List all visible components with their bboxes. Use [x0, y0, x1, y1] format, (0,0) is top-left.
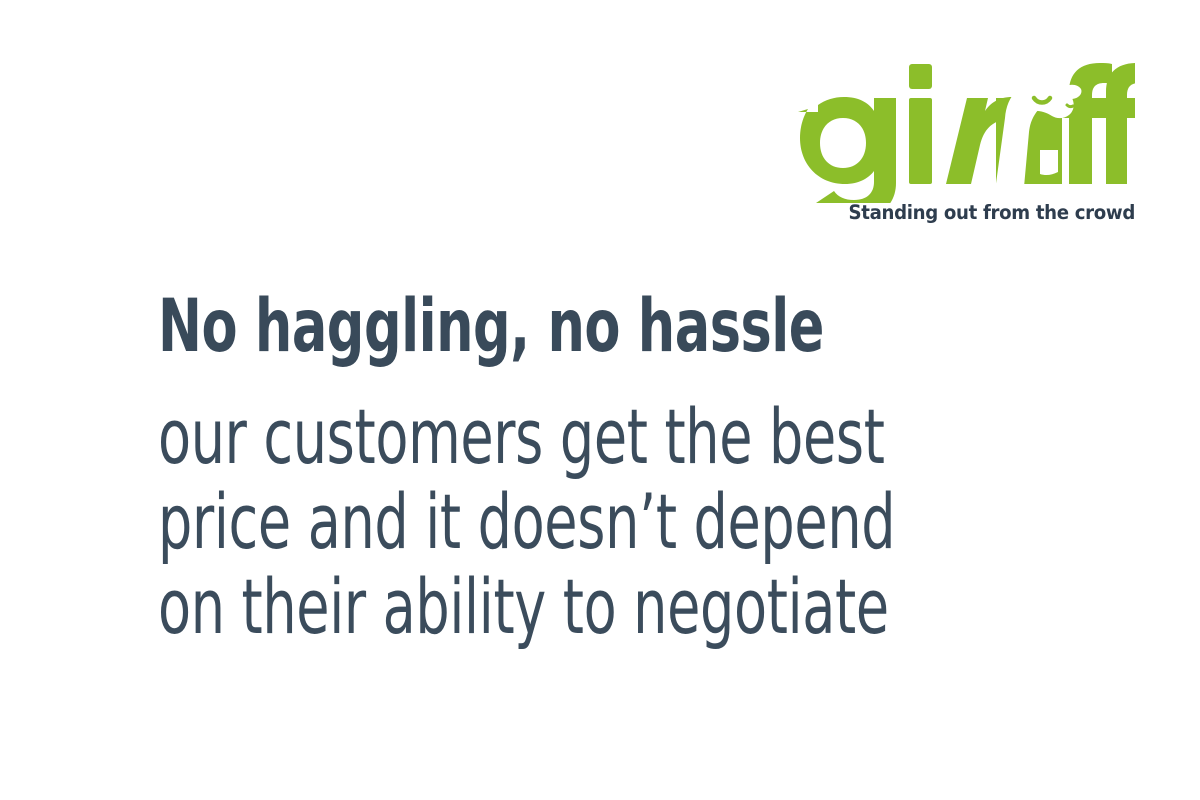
body-copy: our customers get the best price and it … [158, 394, 916, 649]
slide-canvas: Standing out from the crowd No haggling,… [0, 0, 1200, 800]
brand-logo[interactable]: Standing out from the crowd [790, 58, 1135, 238]
giraffe-nostril-icon [1067, 105, 1073, 107]
giraffe-wordmark [790, 58, 1135, 203]
page-title: No haggling, no hassle [158, 288, 926, 366]
body-line-3: on their ability to negotiate [158, 564, 916, 649]
brand-tagline: Standing out from the crowd [814, 201, 1135, 224]
message-block: No haggling, no hassle our customers get… [158, 288, 1118, 649]
body-line-1: our customers get the best [158, 394, 916, 479]
body-line-2: price and it doesn’t depend [158, 479, 916, 564]
